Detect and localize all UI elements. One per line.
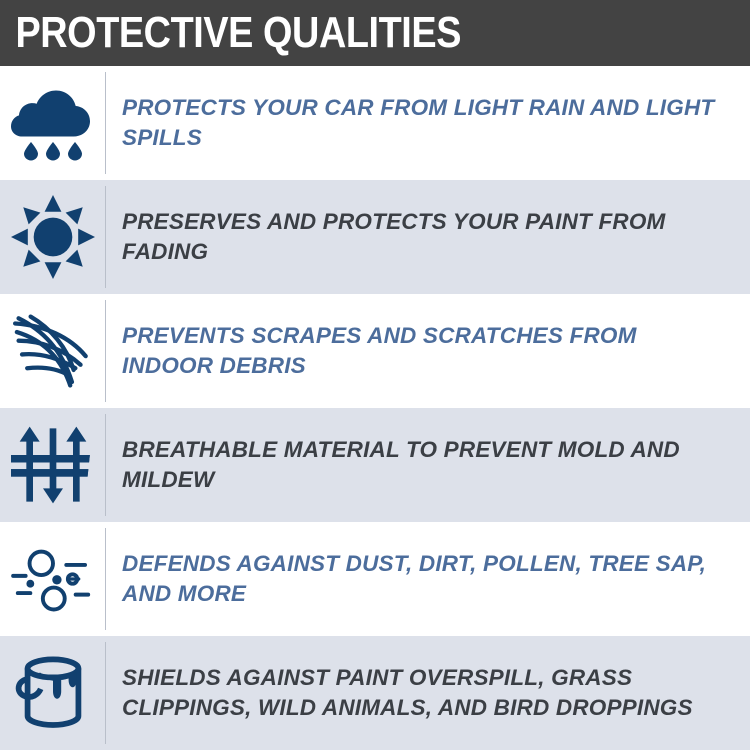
feature-row: PREVENTS SCRAPES AND SCRATCHES FROM INDO… [0, 294, 750, 408]
sun-icon [10, 194, 96, 280]
feature-row: DEFENDS AGAINST DUST, DIRT, POLLEN, TREE… [0, 522, 750, 636]
feature-row: SHIELDS AGAINST PAINT OVERSPILL, GRASS C… [0, 636, 750, 750]
header-bar: PROTECTIVE QUALITIES [0, 0, 750, 66]
icon-cell [0, 180, 106, 294]
feature-row: PRESERVES AND PROTECTS YOUR PAINT FROM F… [0, 180, 750, 294]
feature-text: PRESERVES AND PROTECTS YOUR PAINT FROM F… [122, 207, 734, 267]
paint-can-icon [10, 650, 96, 736]
dust-particles-icon [10, 536, 96, 622]
feature-row: BREATHABLE MATERIAL TO PREVENT MOLD AND … [0, 408, 750, 522]
icon-cell [0, 408, 106, 522]
feature-text: PROTECTS YOUR CAR FROM LIGHT RAIN AND LI… [122, 93, 734, 153]
feature-row: PROTECTS YOUR CAR FROM LIGHT RAIN AND LI… [0, 66, 750, 180]
icon-cell [0, 522, 106, 636]
feature-list: PROTECTS YOUR CAR FROM LIGHT RAIN AND LI… [0, 66, 750, 750]
protective-qualities-infographic: PROTECTIVE QUALITIES PROTEC [0, 0, 750, 750]
text-cell: BREATHABLE MATERIAL TO PREVENT MOLD AND … [106, 408, 750, 522]
feature-text: SHIELDS AGAINST PAINT OVERSPILL, GRASS C… [122, 663, 734, 723]
text-cell: PROTECTS YOUR CAR FROM LIGHT RAIN AND LI… [106, 66, 750, 180]
airflow-arrows-icon [10, 422, 96, 508]
icon-cell [0, 294, 106, 408]
icon-cell [0, 636, 106, 750]
rain-cloud-icon [10, 80, 96, 166]
text-cell: PRESERVES AND PROTECTS YOUR PAINT FROM F… [106, 180, 750, 294]
page-title: PROTECTIVE QUALITIES [0, 11, 461, 55]
mesh-net-icon [10, 308, 96, 394]
icon-cell [0, 66, 106, 180]
feature-text: DEFENDS AGAINST DUST, DIRT, POLLEN, TREE… [122, 549, 734, 609]
feature-text: BREATHABLE MATERIAL TO PREVENT MOLD AND … [122, 435, 734, 495]
text-cell: PREVENTS SCRAPES AND SCRATCHES FROM INDO… [106, 294, 750, 408]
text-cell: SHIELDS AGAINST PAINT OVERSPILL, GRASS C… [106, 636, 750, 750]
feature-text: PREVENTS SCRAPES AND SCRATCHES FROM INDO… [122, 321, 734, 381]
text-cell: DEFENDS AGAINST DUST, DIRT, POLLEN, TREE… [106, 522, 750, 636]
